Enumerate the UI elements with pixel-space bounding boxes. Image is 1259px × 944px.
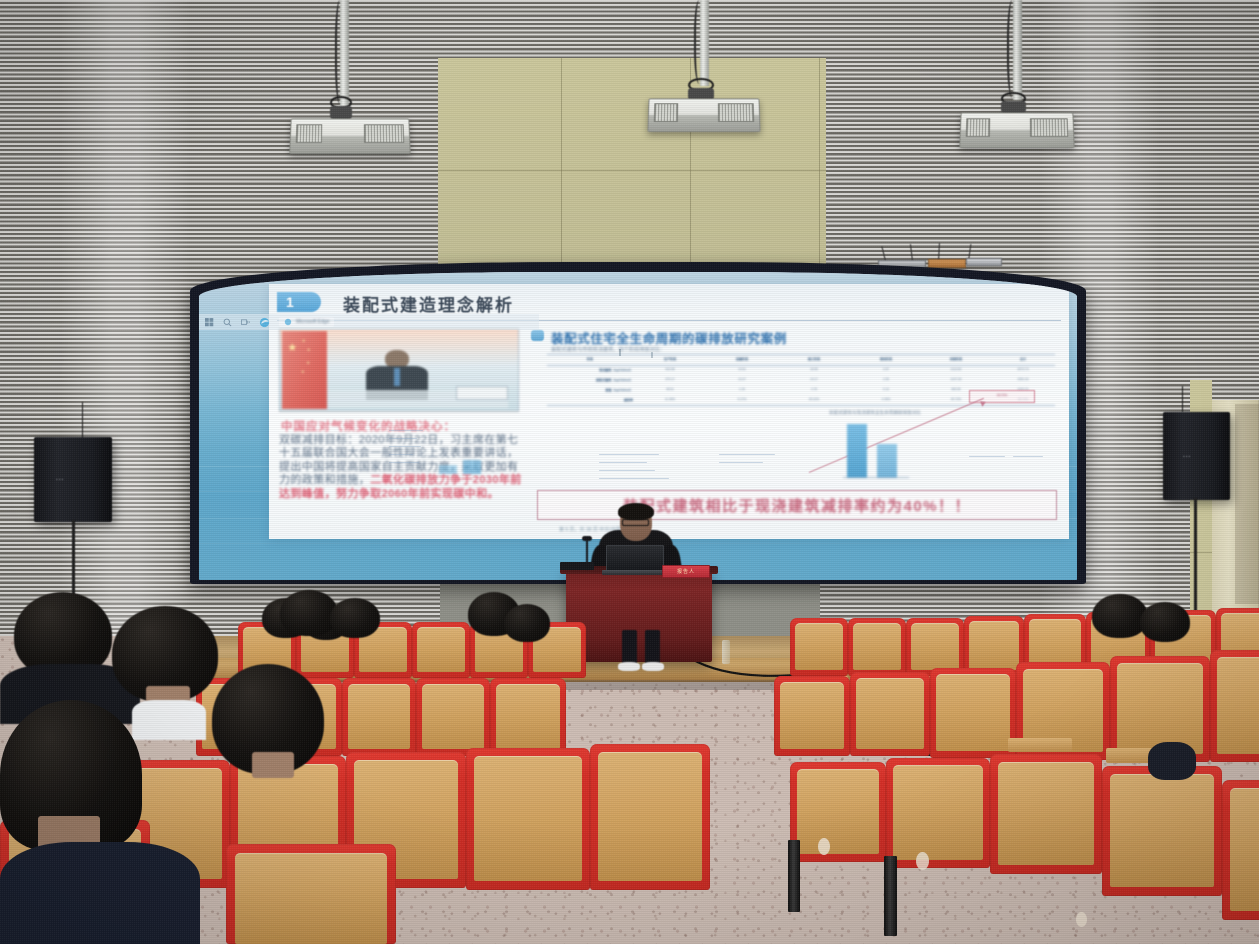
table-row-1-v5: 1551.42 xyxy=(991,377,1055,381)
projector-center xyxy=(647,98,760,132)
table-rule-header xyxy=(547,365,1055,366)
seat-panel xyxy=(422,684,484,749)
seat-panel xyxy=(348,684,410,749)
student-shoulders xyxy=(0,842,200,944)
flag-star-1: ★ xyxy=(302,339,306,343)
conclusion-box: 装配式建筑相比于现浇建筑减排率约为40%！！ xyxy=(537,490,1057,520)
seat-panel xyxy=(474,756,582,881)
search-icon[interactable] xyxy=(223,318,232,327)
projector-right xyxy=(959,112,1074,147)
table-row-1-v4: 1147.26 xyxy=(923,377,989,381)
bar-cast-in-place xyxy=(847,424,867,478)
seat[interactable] xyxy=(930,668,1016,758)
table-row-3-v0: 11.48% xyxy=(635,397,705,401)
edge-icon[interactable] xyxy=(259,317,270,328)
slide-text-line xyxy=(969,456,1005,457)
slide-text-line xyxy=(389,454,413,455)
projector-center-vent-2 xyxy=(718,104,754,122)
chart-caption: 装配式建筑与现浇建筑全生命周期碳排放对比 xyxy=(829,410,921,416)
projector-left-vent-2 xyxy=(364,124,404,143)
flag-star-3: ★ xyxy=(306,361,310,365)
table-row-0-label: 现浇建筑（kgCO2/m2） xyxy=(547,367,633,372)
emission-bar-chart xyxy=(843,422,909,478)
projector-right-vent-2 xyxy=(1030,118,1068,137)
table-row-1-v2: 14.17 xyxy=(779,377,849,381)
flag-star-4: ★ xyxy=(301,370,305,374)
bar-prefabricated xyxy=(877,444,897,478)
podium xyxy=(566,570,712,662)
seat[interactable] xyxy=(850,672,930,756)
seat[interactable] xyxy=(416,678,490,756)
table-col-2: 运输阶段 xyxy=(707,356,777,361)
slide-text-line xyxy=(389,430,423,431)
edge-taskbar-item[interactable]: Microsoft Edge xyxy=(279,317,334,327)
projector-right-cable xyxy=(1007,0,1020,98)
seat[interactable] xyxy=(990,754,1102,874)
microphone-head xyxy=(582,536,592,541)
left-heading: 中国应对气候变化的战略决心： xyxy=(281,418,456,434)
seat[interactable] xyxy=(774,676,850,756)
seat-panel xyxy=(496,684,560,749)
seat-panel xyxy=(1110,774,1214,887)
seat[interactable] xyxy=(1222,780,1259,920)
water-bottle xyxy=(722,640,730,664)
seat-panel xyxy=(936,674,1010,751)
right-title-bullet-icon xyxy=(531,330,544,341)
seat-medallion xyxy=(818,838,830,855)
seat-panel xyxy=(853,623,901,670)
edge-tab-icon xyxy=(284,318,292,326)
mini-bar-a xyxy=(439,465,457,474)
right-title: 装配式住宅全生命周期的碳排放研究案例 xyxy=(551,328,787,347)
table-row-2-v1: 1.34 xyxy=(707,387,777,391)
table-col-3: 施工阶段 xyxy=(779,356,849,361)
conclusion-text: 装配式建筑相比于现浇建筑减排率约为40%！！ xyxy=(623,495,971,516)
table-row-3-v3: 4.49% xyxy=(851,397,921,401)
table-col-0: 阶段 xyxy=(547,356,633,361)
speaker-left: ▪▪▪ xyxy=(34,437,112,522)
presenter-laptop-base[interactable] xyxy=(602,570,670,575)
presenter-left-shoe xyxy=(618,662,640,671)
seat[interactable] xyxy=(412,622,470,678)
student-head xyxy=(330,598,380,638)
chart-axis xyxy=(843,477,909,478)
china-flag: ★ ★ ★ ★ ★ xyxy=(282,331,327,409)
slide-photo: ★ ★ ★ ★ ★ xyxy=(279,328,519,412)
seat[interactable] xyxy=(790,762,886,862)
student-head xyxy=(1140,602,1190,642)
photo-nameplate xyxy=(456,386,508,399)
table-row-1-v0: 374.17 xyxy=(635,377,705,381)
seat-panel xyxy=(1230,788,1259,911)
photo-speaker-tie xyxy=(394,368,400,386)
seat-post xyxy=(788,840,800,912)
table-row-0-v3: 2.67 xyxy=(851,367,921,371)
water-speck-1 xyxy=(619,349,621,356)
slide-text-line xyxy=(599,470,655,471)
presenter-nameplate: 报告人 xyxy=(662,565,710,578)
seat[interactable] xyxy=(1102,766,1222,896)
slide-text-line xyxy=(599,478,669,479)
table-row-3-v2: 25.22% xyxy=(779,397,849,401)
table-row-1-v1: 13.27 xyxy=(707,377,777,381)
table-col-5: 拆除阶段 xyxy=(923,356,989,361)
seat-panel xyxy=(969,621,1019,670)
podium-control-panel[interactable] xyxy=(560,562,594,570)
task-view-icon[interactable] xyxy=(241,318,250,327)
slide-text-line xyxy=(389,438,417,439)
mini-chart-secondary xyxy=(437,456,489,474)
section-title: 装配式建造理念解析 xyxy=(343,291,514,316)
projector-center-vent xyxy=(654,104,678,122)
table-row-1-v3: 2.55 xyxy=(851,377,921,381)
seat[interactable] xyxy=(466,748,590,890)
seat-panel xyxy=(856,678,924,749)
slide-text-line xyxy=(719,454,775,455)
presenter-laptop-screen[interactable] xyxy=(606,545,664,573)
table-col-1: 生产阶段 xyxy=(635,356,705,361)
slide-text-line xyxy=(1013,456,1043,457)
wall-striped-top xyxy=(430,0,830,62)
table-row-0-v2: 18.95 xyxy=(779,367,849,371)
slide-text-line xyxy=(389,462,419,463)
table-row-0-v5: 2573.73 xyxy=(991,367,1055,371)
bag-on-seat[interactable] xyxy=(1148,742,1196,780)
presenter-right-shoe xyxy=(642,662,664,671)
speaker-left-logo: ▪▪▪ xyxy=(56,477,64,483)
seat-panel xyxy=(797,769,879,854)
student-head xyxy=(280,590,338,636)
student-head xyxy=(504,604,550,642)
slide-text-line xyxy=(719,462,763,463)
section-number-badge: 1 xyxy=(277,292,321,312)
seat[interactable] xyxy=(490,678,566,756)
seat-panel xyxy=(1217,657,1259,754)
speaker-right-wire xyxy=(1182,386,1183,412)
table-row-1-label: 装配式建筑（kgCO2/m2） xyxy=(547,377,633,382)
seat-panel xyxy=(998,762,1094,865)
table-row-3-label: 减排率 xyxy=(547,397,633,402)
table-row-3-v1: 9.17% xyxy=(707,397,777,401)
speaker-right: ▪▪▪ xyxy=(1163,412,1230,500)
seat[interactable] xyxy=(886,758,990,868)
start-button[interactable] xyxy=(205,318,214,327)
student-shirt xyxy=(132,700,206,740)
seat[interactable] xyxy=(790,618,848,676)
seat[interactable] xyxy=(342,678,416,756)
seat[interactable] xyxy=(964,616,1024,676)
seat[interactable] xyxy=(590,744,710,890)
table-col-4: 使用阶段 xyxy=(851,356,921,361)
slide-text-line xyxy=(599,462,647,463)
table-row-2-v3: 0.12 xyxy=(851,387,921,391)
speaker-right-stand xyxy=(1194,498,1197,620)
seat[interactable] xyxy=(226,844,396,944)
flag-star-big: ★ xyxy=(287,343,297,354)
table-row-0-v1: 14.61 xyxy=(707,367,777,371)
highlight-result-value: 39.72% xyxy=(969,393,1035,397)
projector-right-mount xyxy=(1001,101,1026,113)
seat-panel xyxy=(598,752,702,881)
projector-left xyxy=(289,118,410,153)
mic-receiver-3 xyxy=(966,258,1002,266)
table-row: 现浇建筑（kgCO2/m2） 422.68 14.61 18.95 2.67 2… xyxy=(547,367,1055,376)
table-row-0-v0: 422.68 xyxy=(635,367,705,371)
table-row-0-v4: 2113.82 xyxy=(923,367,989,371)
projector-left-vent xyxy=(296,124,322,143)
seat-panel xyxy=(417,627,465,672)
mini-bar-b xyxy=(463,460,481,474)
lecture-hall-scene: 1 装配式建造理念解析 ★ ★ ★ ★ ★ 中国应 xyxy=(0,0,1259,944)
seat-panel xyxy=(795,623,843,670)
slide-text-line xyxy=(599,454,659,455)
projector-left-cable xyxy=(335,0,347,104)
seat-medallion xyxy=(1076,912,1087,927)
student-neck xyxy=(252,752,294,778)
presenter-glasses xyxy=(622,519,649,526)
seat-panel xyxy=(1117,663,1203,754)
speaker-right-logo: ▪▪▪ xyxy=(1183,454,1191,460)
speaker-left-wire xyxy=(82,402,83,438)
table-row-2-v2: 4.78 xyxy=(779,387,849,391)
seat-panel xyxy=(911,623,959,670)
projector-right-vent xyxy=(966,118,990,137)
seat-panel xyxy=(780,682,844,749)
table-row-2-label: 差值（kgCO2/m2） xyxy=(547,387,633,392)
water-speck-2 xyxy=(651,352,653,358)
section-number: 1 xyxy=(286,294,294,310)
nameplate-text: 报告人 xyxy=(677,568,695,575)
projector-center-cable xyxy=(694,0,707,84)
projector-left-mount xyxy=(330,106,352,119)
table-col-6: 合计 xyxy=(991,356,1055,361)
seat-post xyxy=(884,856,897,936)
seat[interactable] xyxy=(1210,650,1259,762)
table-header-row: 阶段 生产阶段 运输阶段 施工阶段 使用阶段 拆除阶段 合计 xyxy=(547,356,1055,365)
flag-star-2: ★ xyxy=(307,348,311,352)
table-row: 装配式建筑（kgCO2/m2） 374.17 13.27 14.17 2.55 … xyxy=(547,377,1055,386)
edge-tab-label: Microsoft Edge xyxy=(296,319,329,325)
side-door-panel[interactable] xyxy=(1235,404,1259,604)
student-head xyxy=(1092,594,1148,638)
mic-receiver-2 xyxy=(928,259,966,268)
seat-panel xyxy=(235,853,387,944)
right-subtitle: 装配式建筑与传统现浇建筑，四个阶段排放对比： xyxy=(551,346,665,353)
table-rule-top xyxy=(547,354,1055,355)
seat-panel xyxy=(893,765,983,860)
slide-text-line xyxy=(389,446,421,447)
seat-medallion xyxy=(916,852,929,870)
presenter-hair xyxy=(618,503,654,520)
seat[interactable] xyxy=(848,618,906,676)
seat-tablet-arm[interactable] xyxy=(1008,738,1072,752)
table-row-2-v0: 48.51 xyxy=(635,387,705,391)
windows-taskbar[interactable]: Microsoft Edge xyxy=(199,314,539,330)
